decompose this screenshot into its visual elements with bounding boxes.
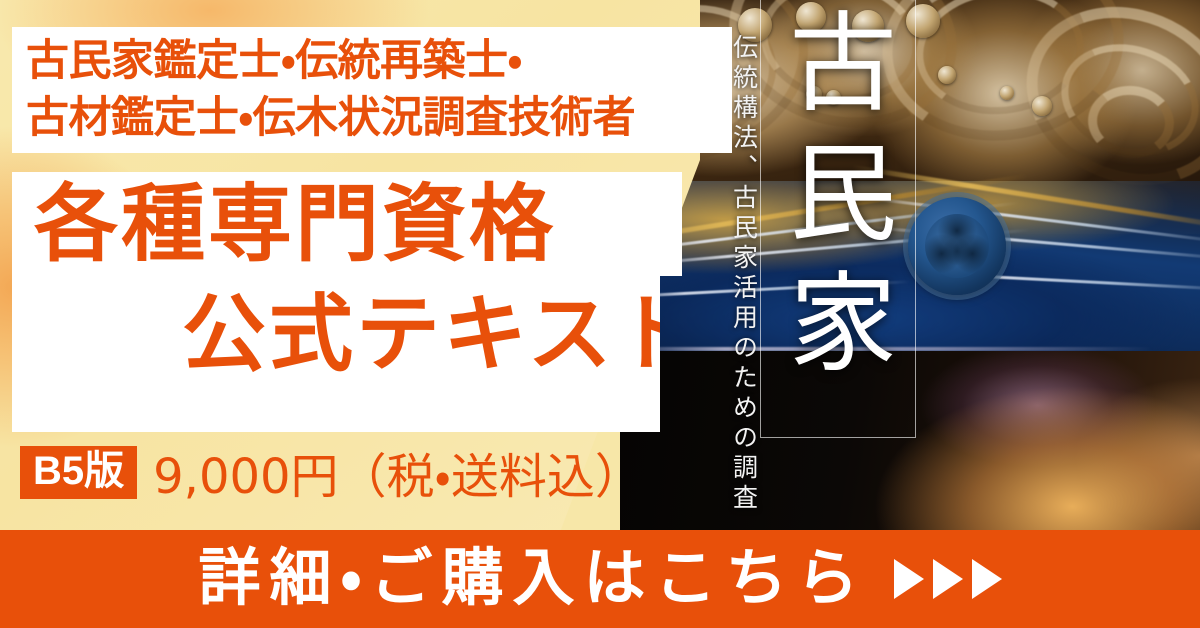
- carving-knob: [938, 66, 956, 84]
- play-triangle-icon: [972, 559, 1002, 599]
- price-text: 9,000円（税・送料込）: [153, 437, 643, 507]
- main-heading-line-2: 公式テキスト: [182, 288, 701, 380]
- format-badge: B5版: [20, 446, 137, 499]
- main-heading-line-1: 各種専門資格: [34, 178, 556, 270]
- cta-bar[interactable]: 詳細・ご購入はこちら: [0, 530, 1200, 628]
- cta-arrows: [894, 559, 1002, 599]
- family-crest-icon: [908, 197, 1006, 295]
- qualifications-text: 古民家鑑定士・伝統再築士・ 古材鑑定士・伝木状況調査技術者: [26, 33, 635, 147]
- price-row: B5版 9,000円（税・送料込）: [20, 437, 643, 507]
- qualifications-line-1: 古民家鑑定士・伝統再築士・: [26, 33, 635, 90]
- qualifications-box: 古民家鑑定士・伝統再築士・ 古材鑑定士・伝木状況調査技術者: [12, 27, 732, 153]
- cover-vertical-title: 古民家: [778, 6, 886, 396]
- play-triangle-icon: [894, 559, 924, 599]
- carving-knob: [1000, 86, 1014, 100]
- main-heading-box: 各種専門資格 公式テキスト: [12, 172, 682, 432]
- carving-knob: [1032, 96, 1052, 116]
- cta-label: 詳細・ご購入はこちら: [198, 548, 867, 610]
- play-triangle-icon: [933, 559, 963, 599]
- promo-banner: 古民家 伝統構法、古民家活用のための調査と再生の 古民家鑑定士・伝統再築士・ 古…: [0, 0, 1200, 628]
- qualifications-line-2: 古材鑑定士・伝木状況調査技術者: [26, 90, 635, 147]
